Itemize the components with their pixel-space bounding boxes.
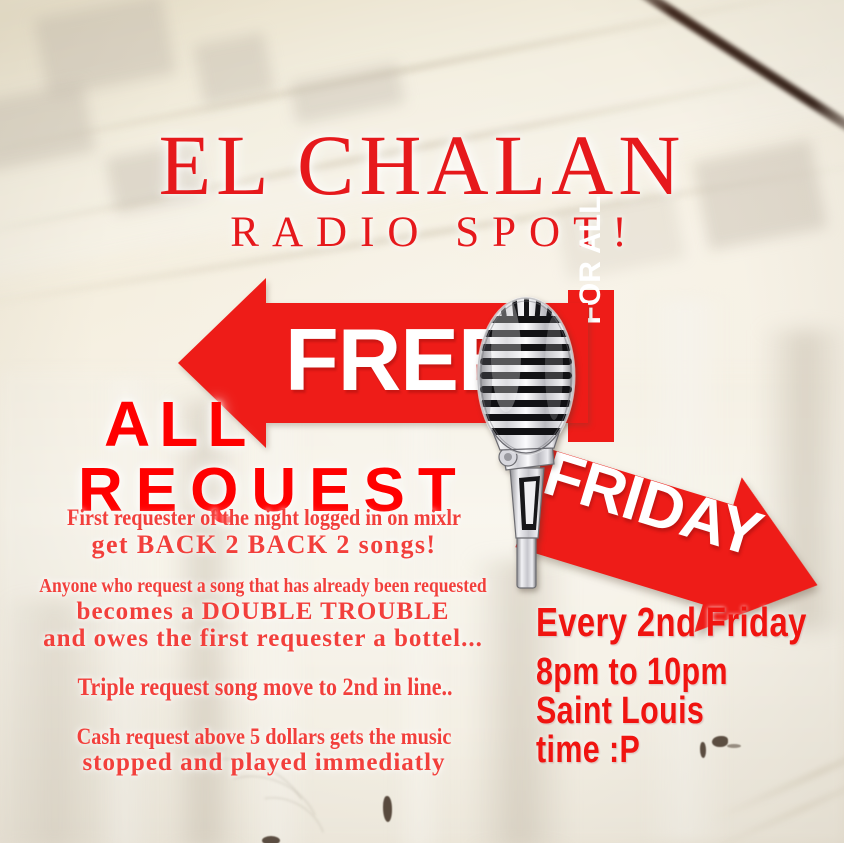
rule-line: Cash request above 5 dollars gets the mu…	[39, 725, 490, 750]
page-title: EL CHALAN	[0, 126, 844, 205]
rule-line: stopped and played immediatly	[8, 749, 520, 776]
event-info-block: Every 2nd Friday 8pm to 10pm Saint Louis…	[536, 601, 844, 771]
rule-line: First requester of the night logged in o…	[39, 506, 490, 531]
rule-line: Anyone who request a song that has alrea…	[37, 576, 489, 598]
list-item: First requester of the night logged in o…	[8, 506, 520, 559]
event-time: 8pm to 10pm	[536, 653, 807, 692]
all-request-headline: ALL REQUEST	[78, 392, 469, 522]
event-schedule: Every 2nd Friday	[536, 601, 807, 643]
list-item: Triple request song move to 2nd in line.…	[10, 674, 520, 701]
headline-line-all: ALL	[78, 392, 469, 456]
page-subtitle: RADIO SPOT!	[26, 211, 844, 254]
rule-line: get BACK 2 BACK 2 songs!	[8, 531, 520, 559]
rules-list: First requester of the night logged in o…	[0, 506, 520, 793]
event-timezone-note: time :P	[536, 731, 807, 770]
poster-canvas: EL CHALAN RADIO SPOT! FOR ALL FREE ALL R…	[0, 0, 844, 843]
poster-title-block: EL CHALAN RADIO SPOT!	[0, 126, 844, 254]
list-item: Cash request above 5 dollars gets the mu…	[8, 725, 520, 777]
rule-line: and owes the first requester a bottel...	[6, 625, 520, 652]
list-item: Anyone who request a song that has alrea…	[6, 576, 520, 652]
rule-line: becomes a DOUBLE TROUBLE	[6, 598, 520, 625]
event-location: Saint Louis	[536, 692, 807, 731]
rule-line: Triple request song move to 2nd in line.…	[41, 674, 490, 701]
